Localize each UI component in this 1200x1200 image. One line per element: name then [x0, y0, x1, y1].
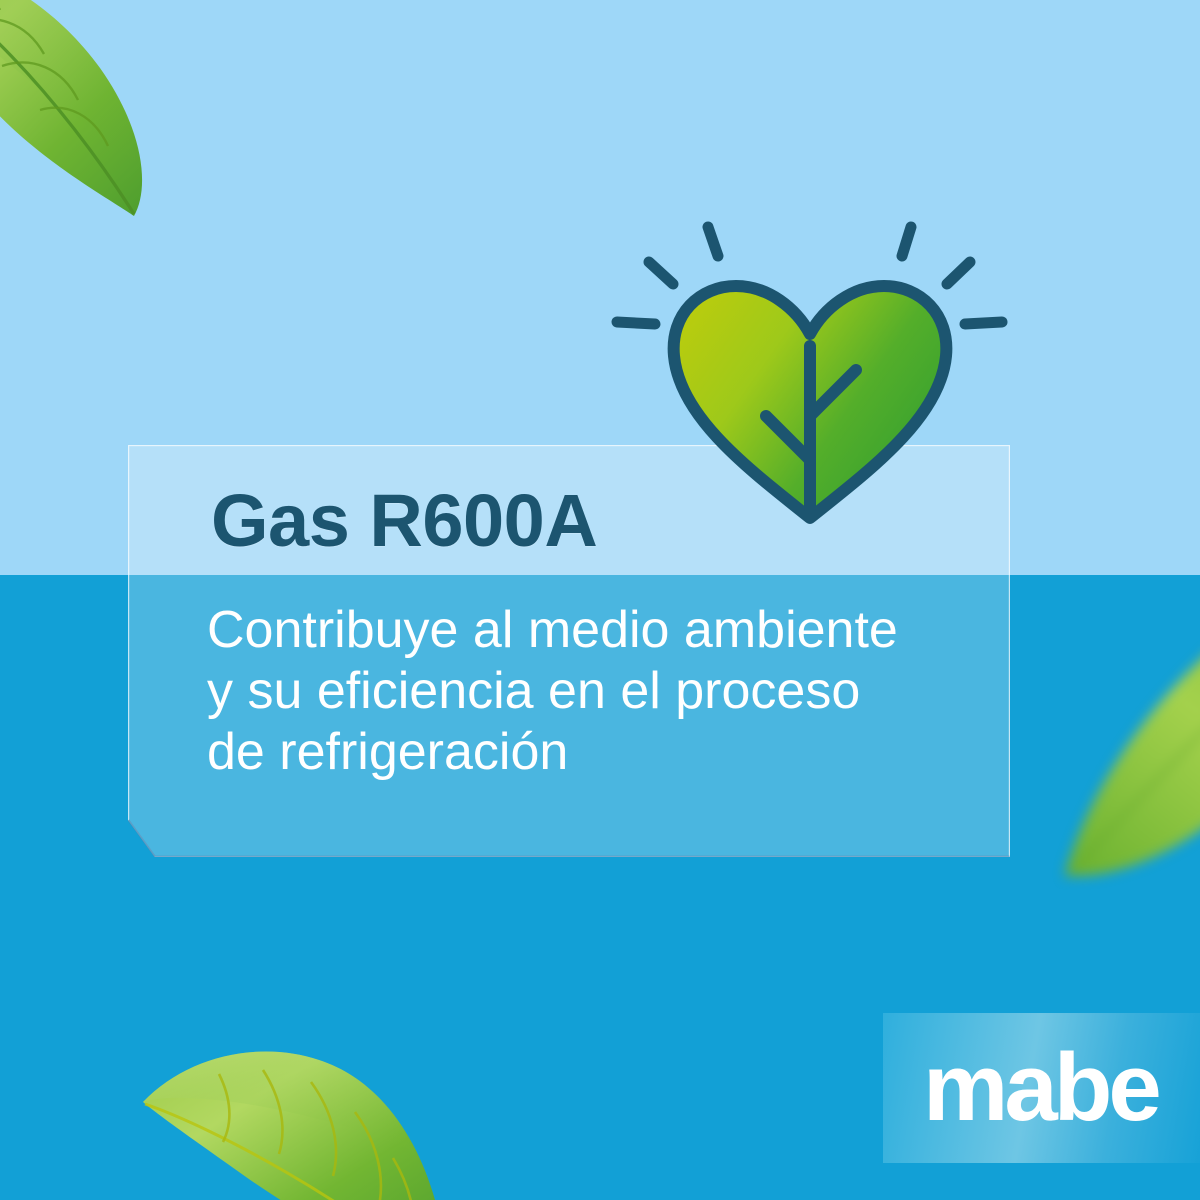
leaf-top-left-icon [0, 0, 242, 268]
leaf-right-icon [995, 545, 1200, 945]
description-line-2: y su eficiencia en el proceso [207, 661, 1027, 722]
description-line-3: de refrigeración [207, 722, 1027, 783]
promo-canvas: Gas R600A Contribuye al medio ambiente y… [0, 0, 1200, 1200]
ray-group [617, 227, 1002, 324]
description-line-1: Contribuye al medio ambiente [207, 600, 1027, 661]
leaf-bottom-left-icon [135, 1020, 465, 1200]
page-title: Gas R600A [211, 478, 597, 563]
eco-heart-tree-icon [600, 218, 1020, 538]
brand-wordmark: mabe [923, 1040, 1163, 1136]
panel-description: Contribuye al medio ambiente y su eficie… [207, 600, 1027, 782]
